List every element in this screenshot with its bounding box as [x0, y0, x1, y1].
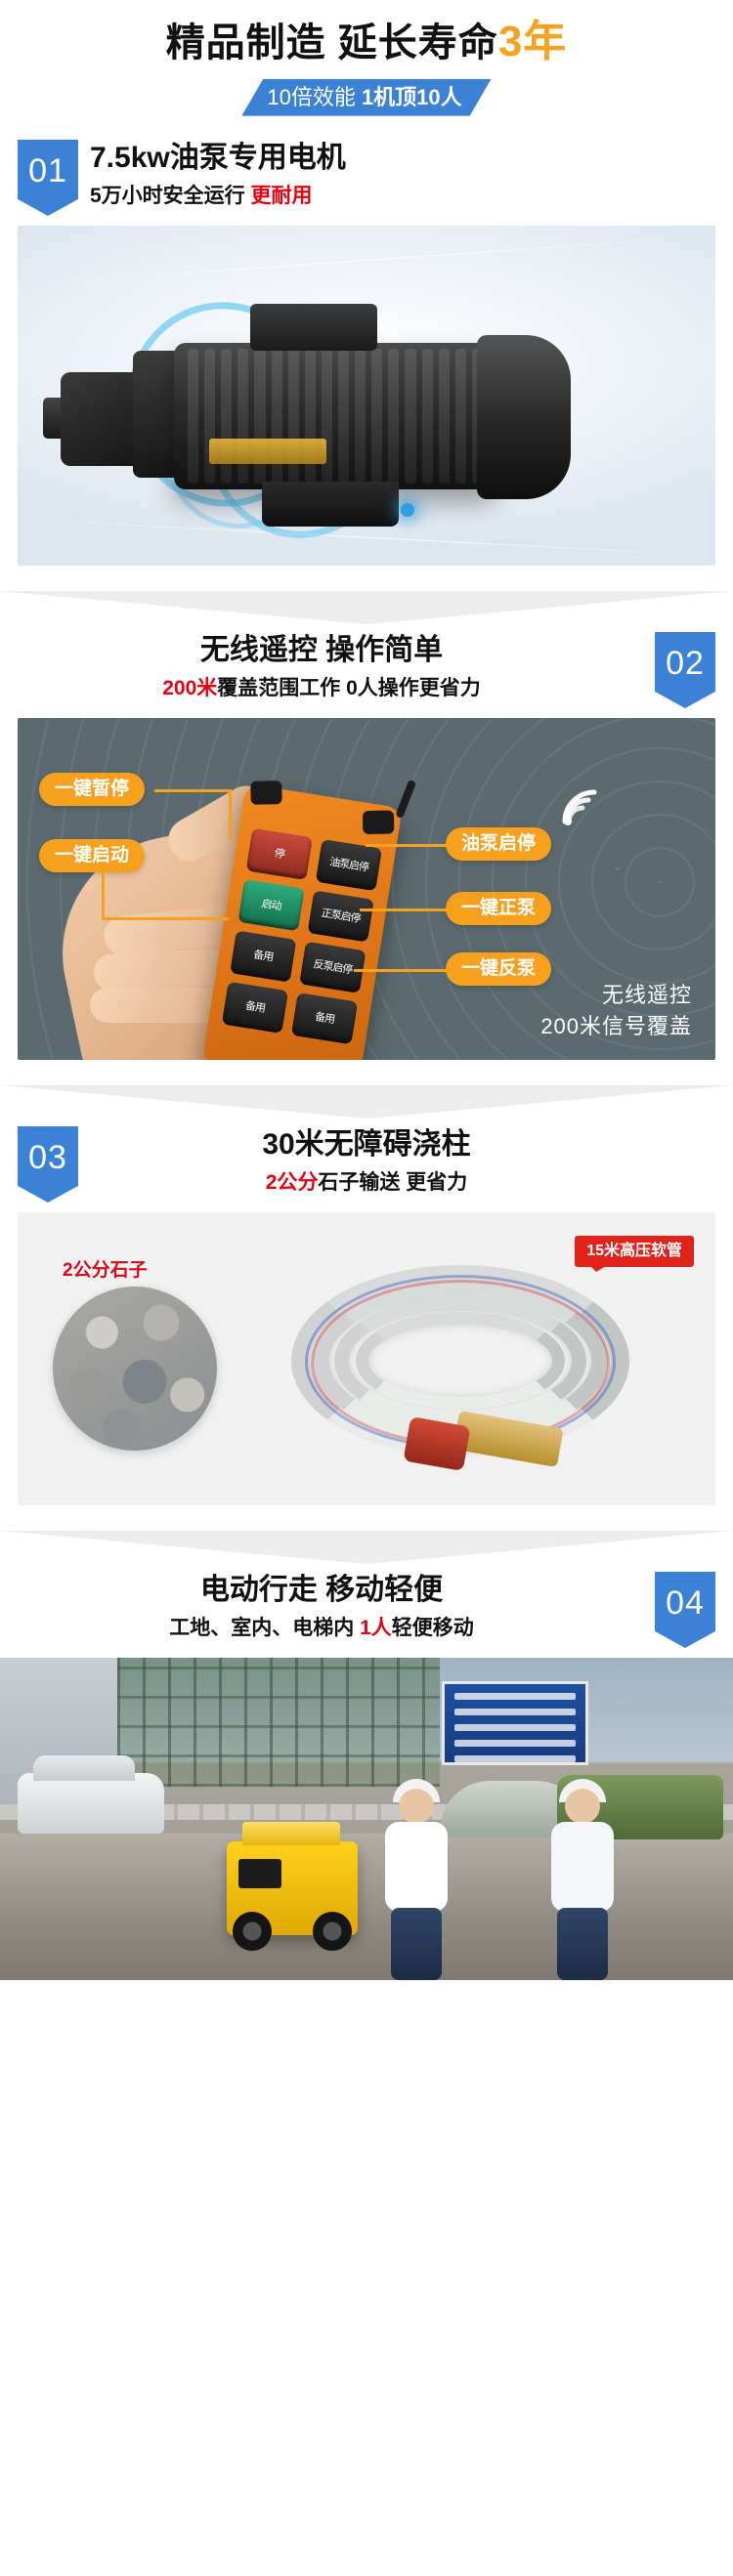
worker-legs	[557, 1908, 608, 1980]
section-01-sub-normal: 5万小时安全运行	[90, 185, 251, 207]
leader-line	[360, 908, 448, 911]
hose-red-fitting	[403, 1416, 470, 1471]
spacer	[0, 1060, 733, 1085]
stone-size-label: 2公分石子	[63, 1255, 148, 1282]
section-04-sub-normal-1: 工地、室内、电梯内	[169, 1617, 360, 1639]
section-02-sub-red: 200米	[162, 677, 217, 699]
header-ribbon: 10倍效能 1机顶10人	[241, 79, 491, 116]
worker-torso	[551, 1822, 614, 1912]
section-03-title: 30米无障碍浇柱	[0, 1126, 733, 1163]
spacer	[0, 566, 733, 591]
section-03-sub-normal: 石子输送 更省力	[318, 1171, 467, 1194]
motor-scene	[18, 226, 715, 566]
worker-torso	[385, 1822, 448, 1912]
white-van	[18, 1773, 164, 1834]
ribbon-text-1: 10倍效能	[267, 85, 362, 109]
section-01-title: 7.5kw油泵专用电机	[90, 140, 733, 177]
section-04-sub-red: 1人	[360, 1617, 392, 1639]
site-photo	[0, 1658, 733, 1980]
callout-reverse-pump: 一键反泵	[446, 952, 551, 986]
remote-overlay-text: 无线遥控 200米信号覆盖	[540, 980, 692, 1042]
leader-line	[102, 872, 105, 919]
page-title: 精品制造 延长寿命3年	[0, 18, 733, 67]
section-03-sub-red: 2公分	[266, 1171, 319, 1194]
hose-coil-image	[262, 1247, 672, 1474]
remote-key-stop[interactable]: 停	[246, 828, 313, 880]
motor-indicator-light	[401, 503, 414, 517]
machine-wheel	[233, 1912, 272, 1951]
header-ribbon-wrap: 10倍效能 1机顶10人	[0, 79, 733, 116]
motor-mount-foot	[262, 482, 399, 527]
leader-line	[154, 789, 231, 792]
ground-surface	[0, 1834, 733, 1980]
section-04-head: 04 电动行走 移动轻便 工地、室内、电梯内 1人轻便移动	[0, 1564, 733, 1658]
section-02-subtitle: 200米覆盖范围工作 0人操作更省力	[0, 673, 643, 704]
worker-head	[399, 1789, 434, 1824]
section-separator-wedge	[0, 1531, 733, 1564]
section-02-head: 02 无线遥控 操作简单 200米覆盖范围工作 0人操作更省力	[0, 624, 733, 718]
page-header: 精品制造 延长寿命3年 10倍效能 1机顶10人	[0, 0, 733, 132]
remote-key-reverse[interactable]: 反泵启停	[299, 942, 366, 993]
page-title-main: 精品制造 延长寿命	[166, 21, 498, 64]
wifi-signal-icon	[559, 788, 606, 827]
section-02-head-text: 无线遥控 操作简单 200米覆盖范围工作 0人操作更省力	[0, 624, 733, 703]
remote-key-spare-3[interactable]: 备用	[291, 992, 358, 1044]
section-04-sub-normal-2: 轻便移动	[392, 1617, 474, 1639]
callout-forward-pump: 一键正泵	[446, 892, 551, 925]
section-04-subtitle: 工地、室内、电梯内 1人轻便移动	[0, 1613, 643, 1644]
callout-pump-toggle: 油泵启停	[446, 827, 551, 861]
remote-overlay-line-2: 200米信号覆盖	[540, 1011, 692, 1042]
scaffolding-net	[117, 1658, 440, 1787]
section-01-subtitle: 5万小时安全运行 更耐用	[90, 181, 733, 212]
leader-line	[366, 844, 448, 847]
section-01-head-text: 7.5kw油泵专用电机 5万小时安全运行 更耐用	[0, 132, 733, 211]
remote-photo: 停 油泵启停 启动 正泵启停 备用 反泵启停 备用 备用 一键暂停 一键启动	[18, 718, 715, 1060]
motor-end-cap-right	[477, 335, 571, 499]
section-02-title: 无线遥控 操作简单	[0, 632, 643, 669]
motor-body	[174, 343, 496, 489]
section-03-head: 03 30米无障碍浇柱 2公分石子输送 更省力	[0, 1119, 733, 1212]
page-title-accent: 3年	[498, 18, 567, 65]
light-streak	[18, 235, 713, 285]
section-01-head: 01 7.5kw油泵专用电机 5万小时安全运行 更耐用	[0, 132, 733, 226]
machine-hopper	[242, 1822, 340, 1845]
section-04-title: 电动行走 移动轻便	[0, 1572, 643, 1609]
remote-key-start[interactable]: 启动	[237, 879, 304, 931]
section-04-head-text: 电动行走 移动轻便 工地、室内、电梯内 1人轻便移动	[0, 1564, 733, 1643]
hose-length-tag: 15米高压软管	[575, 1236, 694, 1267]
motor-junction-box	[250, 304, 377, 351]
worker-legs	[391, 1908, 442, 1980]
motor-photo	[18, 226, 715, 566]
ribbon-text-2: 1机顶10人	[362, 85, 462, 109]
worker-person	[381, 1789, 452, 1980]
spacer	[0, 1505, 733, 1531]
site-information-board	[442, 1681, 588, 1765]
remote-overlay-line-1: 无线遥控	[540, 980, 692, 1011]
worker-person	[547, 1789, 618, 1980]
remote-key-spare-1[interactable]: 备用	[230, 930, 296, 982]
remote-key-spare-2[interactable]: 备用	[222, 982, 288, 1034]
antenna-icon	[395, 780, 416, 819]
section-03-subtitle: 2公分石子输送 更省力	[0, 1167, 733, 1199]
motor-nameplate	[209, 439, 326, 464]
screw-icon	[363, 811, 394, 835]
machine-control-panel	[238, 1859, 281, 1888]
leader-line	[229, 789, 232, 840]
remote-keypad: 停 油泵启停 启动 正泵启停 备用 反泵启停 备用 备用	[222, 828, 382, 1044]
stone-sample-image	[53, 1287, 217, 1451]
section-01-sub-red: 更耐用	[251, 185, 313, 207]
screw-icon	[250, 781, 281, 805]
hose-photo: 2公分石子 15米高压软管	[18, 1212, 715, 1505]
section-03-head-text: 30米无障碍浇柱 2公分石子输送 更省力	[0, 1119, 733, 1198]
machine-wheel	[313, 1912, 352, 1951]
leader-line	[354, 969, 448, 972]
remote-key-forward[interactable]: 正泵启停	[308, 890, 374, 942]
section-separator-wedge	[0, 1085, 733, 1119]
worker-head	[565, 1789, 600, 1824]
leader-line	[102, 917, 229, 920]
callout-start: 一键启动	[39, 839, 145, 872]
callout-pause: 一键暂停	[39, 773, 145, 806]
section-02-sub-normal: 覆盖范围工作 0人操作更省力	[217, 677, 481, 699]
product-detail-page: 精品制造 延长寿命3年 10倍效能 1机顶10人 01 7.5kw油泵专用电机 …	[0, 0, 733, 2576]
concrete-pump-machine	[227, 1841, 358, 1935]
section-separator-wedge	[0, 591, 733, 624]
